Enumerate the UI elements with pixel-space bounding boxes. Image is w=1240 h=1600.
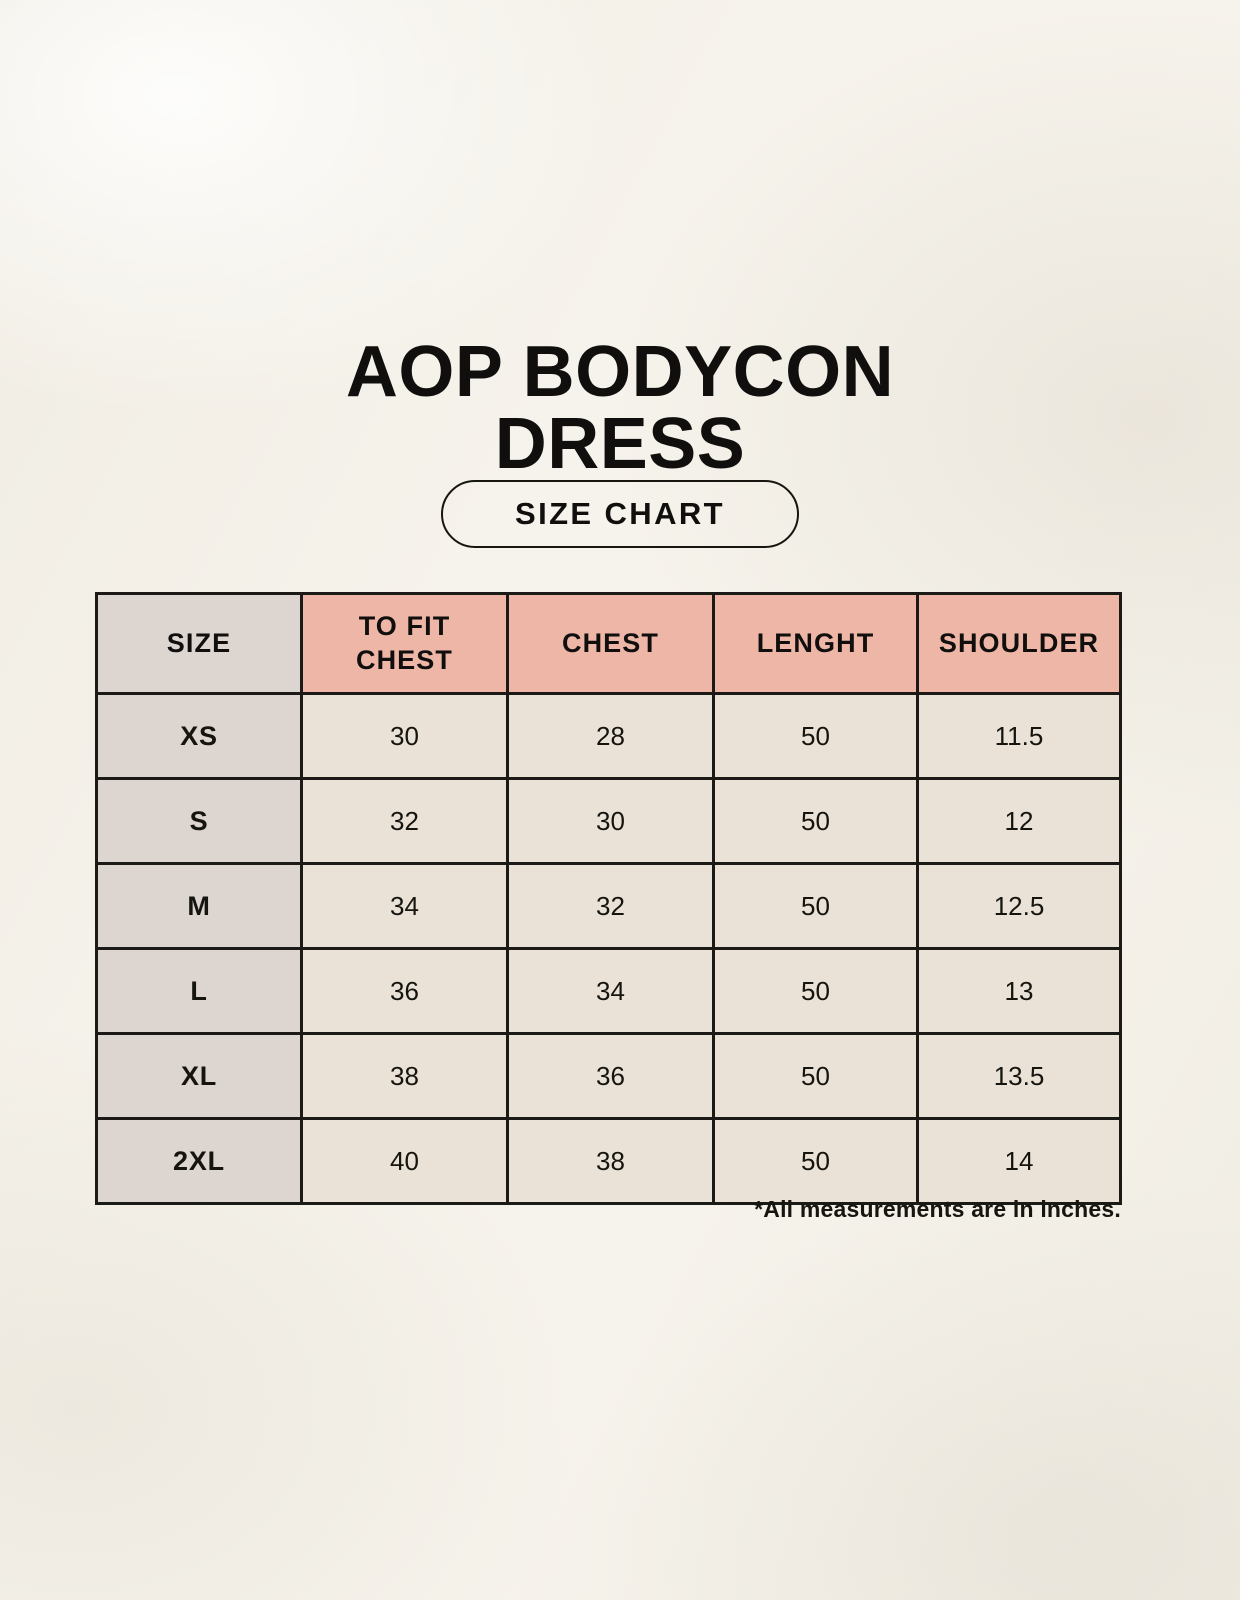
cell-size: M — [97, 864, 302, 949]
cell-to-fit-chest: 32 — [302, 779, 508, 864]
table-header: SIZE TO FIT CHEST CHEST LENGHT SHOULDER — [97, 594, 1121, 694]
cell-shoulder: 14 — [918, 1119, 1121, 1204]
table-row: M 34 32 50 12.5 — [97, 864, 1121, 949]
cell-lenght: 50 — [714, 694, 918, 779]
column-header-shoulder: SHOULDER — [918, 594, 1121, 694]
cell-to-fit-chest: 36 — [302, 949, 508, 1034]
cell-size: S — [97, 779, 302, 864]
cell-to-fit-chest: 34 — [302, 864, 508, 949]
cell-chest: 34 — [508, 949, 714, 1034]
cell-chest: 36 — [508, 1034, 714, 1119]
column-header-to-fit-chest: TO FIT CHEST — [302, 594, 508, 694]
table-body: XS 30 28 50 11.5 S 32 30 50 12 M 34 32 — [97, 694, 1121, 1204]
cell-shoulder: 12 — [918, 779, 1121, 864]
measurement-units-note: *All measurements are in inches. — [754, 1196, 1121, 1223]
cell-chest: 32 — [508, 864, 714, 949]
cell-lenght: 50 — [714, 864, 918, 949]
cell-shoulder: 13 — [918, 949, 1121, 1034]
table-row: S 32 30 50 12 — [97, 779, 1121, 864]
size-chart-badge: SIZE CHART — [441, 480, 799, 548]
cell-chest: 38 — [508, 1119, 714, 1204]
cell-lenght: 50 — [714, 779, 918, 864]
cell-lenght: 50 — [714, 949, 918, 1034]
cell-shoulder: 13.5 — [918, 1034, 1121, 1119]
size-chart-table-wrapper: SIZE TO FIT CHEST CHEST LENGHT SHOULDER … — [95, 592, 1119, 1205]
cell-lenght: 50 — [714, 1034, 918, 1119]
cell-size: XS — [97, 694, 302, 779]
column-header-size: SIZE — [97, 594, 302, 694]
cell-shoulder: 12.5 — [918, 864, 1121, 949]
cell-size: L — [97, 949, 302, 1034]
size-chart-page: AOP BODYCON DRESS SIZE CHART SIZE TO FIT… — [0, 0, 1240, 1600]
cell-shoulder: 11.5 — [918, 694, 1121, 779]
table-row: XS 30 28 50 11.5 — [97, 694, 1121, 779]
cell-to-fit-chest: 38 — [302, 1034, 508, 1119]
badge-container: SIZE CHART — [0, 480, 1240, 548]
cell-chest: 30 — [508, 779, 714, 864]
cell-chest: 28 — [508, 694, 714, 779]
cell-lenght: 50 — [714, 1119, 918, 1204]
cell-to-fit-chest: 30 — [302, 694, 508, 779]
column-header-chest: CHEST — [508, 594, 714, 694]
table-row: 2XL 40 38 50 14 — [97, 1119, 1121, 1204]
cell-size: XL — [97, 1034, 302, 1119]
table-row: L 36 34 50 13 — [97, 949, 1121, 1034]
cell-to-fit-chest: 40 — [302, 1119, 508, 1204]
column-header-lenght: LENGHT — [714, 594, 918, 694]
size-chart-table: SIZE TO FIT CHEST CHEST LENGHT SHOULDER … — [95, 592, 1122, 1205]
cell-size: 2XL — [97, 1119, 302, 1204]
table-header-row: SIZE TO FIT CHEST CHEST LENGHT SHOULDER — [97, 594, 1121, 694]
page-title: AOP BODYCON DRESS — [0, 336, 1240, 480]
table-row: XL 38 36 50 13.5 — [97, 1034, 1121, 1119]
